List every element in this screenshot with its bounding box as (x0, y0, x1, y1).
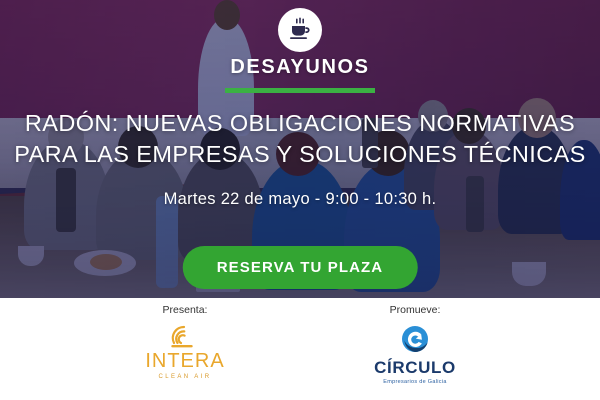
intera-swirl-icon (168, 324, 202, 350)
circulo-swirl-icon (398, 324, 432, 356)
sponsor-presenta: Presenta: INTERA CLEAN AIR (115, 304, 255, 385)
hero-kicker: DESAYUNOS (0, 56, 600, 79)
sponsor-label: Promueve: (345, 304, 485, 316)
accent-rule (225, 88, 375, 93)
headline-line-2: PARA LAS EMPRESAS Y SOLUCIONES TÉCNICAS (14, 139, 586, 170)
hero-section: DESAYUNOS RADÓN: NUEVAS OBLIGACIONES NOR… (0, 0, 600, 298)
sponsor-row: Presenta: INTERA CLEAN AIR Prom (0, 304, 600, 385)
hero-date-time: Martes 22 de mayo - 9:00 - 10:30 h. (0, 190, 600, 209)
circulo-wordmark: CÍRCULO (374, 359, 456, 376)
circulo-tagline: Empresarios de Galicia (383, 379, 446, 385)
sponsor-promueve: Promueve: CÍRCULO Empresarios de Galicia (345, 304, 485, 385)
circulo-logo[interactable]: CÍRCULO Empresarios de Galicia (345, 324, 485, 385)
coffee-cup-icon (278, 8, 322, 52)
intera-logo[interactable]: INTERA CLEAN AIR (115, 324, 255, 380)
email-banner: DESAYUNOS RADÓN: NUEVAS OBLIGACIONES NOR… (0, 0, 600, 400)
footer-section: Presenta: INTERA CLEAN AIR Prom (0, 298, 600, 400)
intera-wordmark: INTERA (145, 351, 224, 371)
sponsor-label: Presenta: (115, 304, 255, 316)
hero-headline: RADÓN: NUEVAS OBLIGACIONES NORMATIVAS PA… (14, 108, 586, 170)
reserve-seat-button[interactable]: RESERVA TU PLAZA (183, 246, 418, 289)
hero-content: DESAYUNOS RADÓN: NUEVAS OBLIGACIONES NOR… (0, 0, 600, 298)
intera-tagline: CLEAN AIR (159, 374, 212, 380)
headline-line-1: RADÓN: NUEVAS OBLIGACIONES NORMATIVAS (25, 110, 575, 136)
